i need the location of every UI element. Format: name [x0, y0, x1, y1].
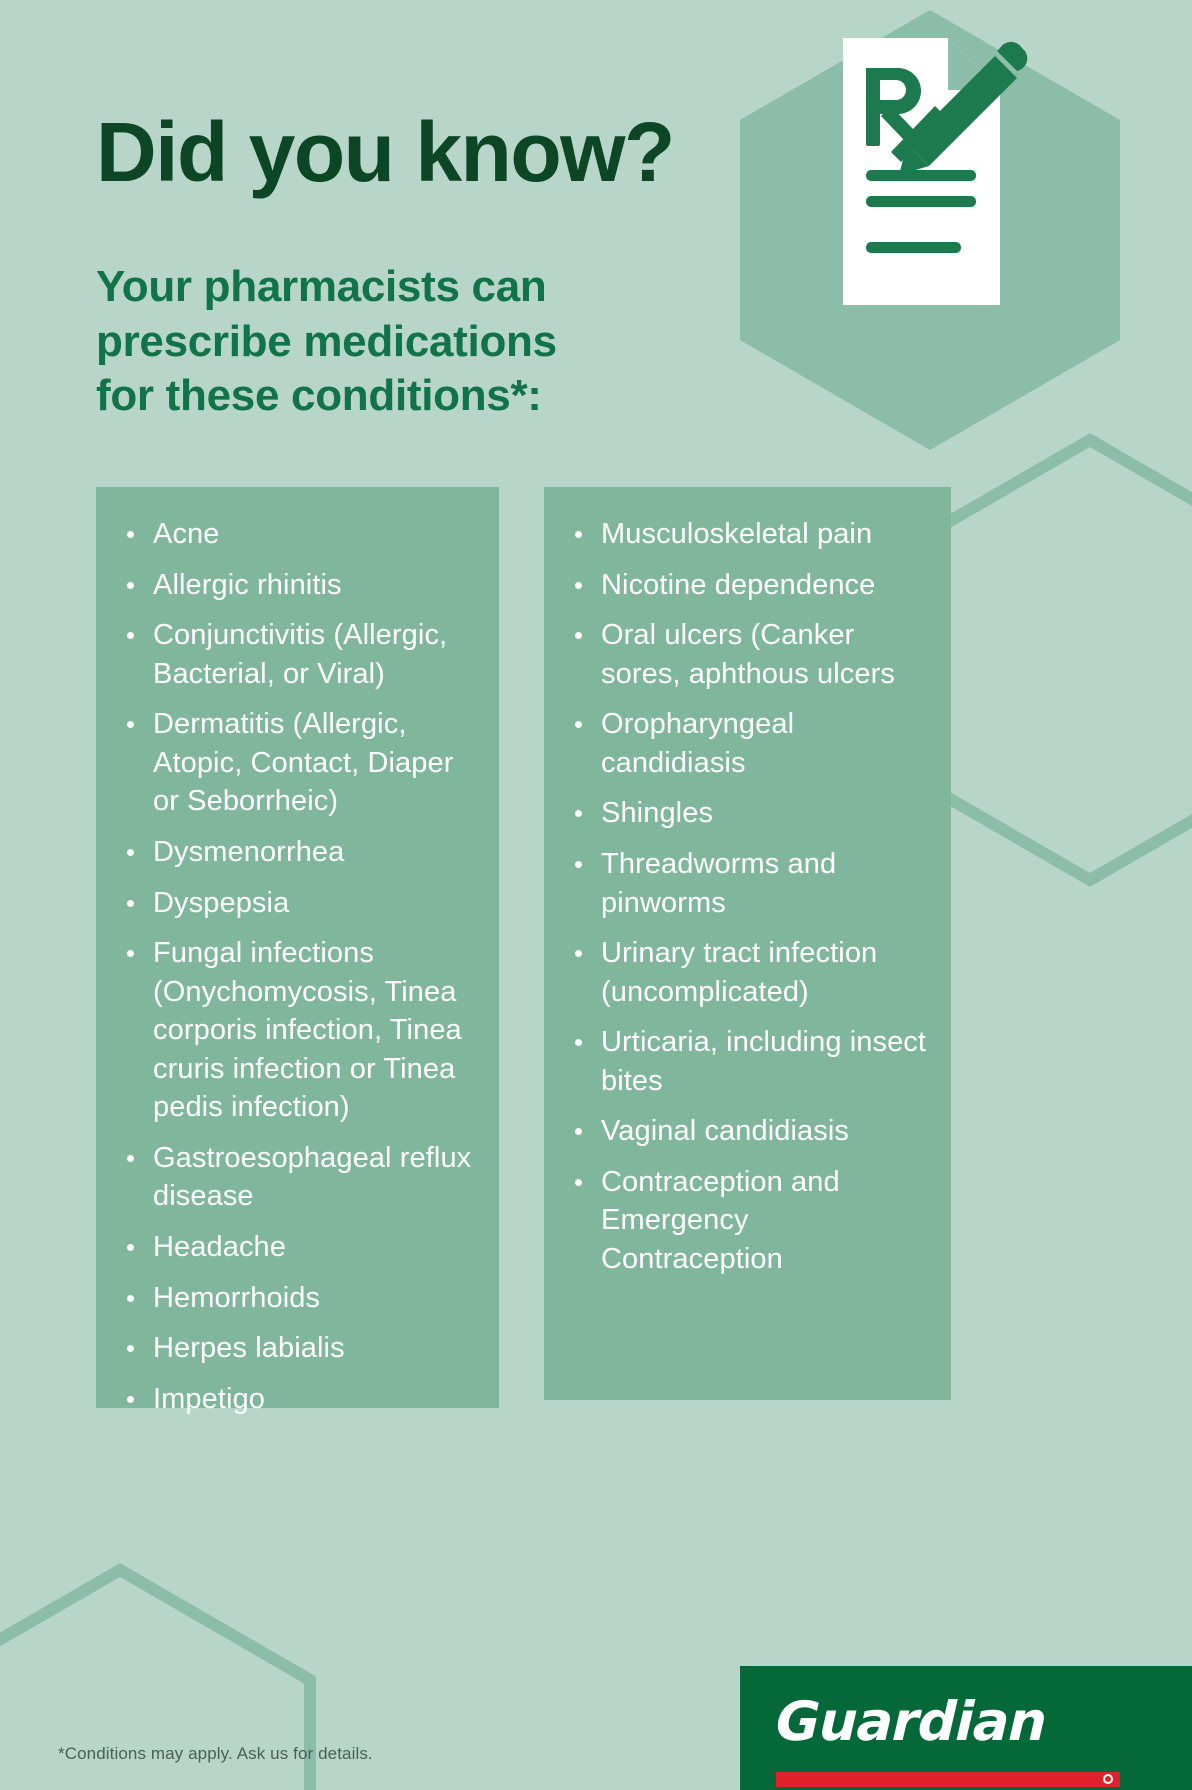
conditions-list-right: Musculoskeletal painNicotine dependenceO…	[566, 515, 929, 1279]
list-item: Dyspepsia	[118, 884, 477, 923]
guardian-registered-mark	[1103, 1774, 1113, 1784]
list-item: Acne	[118, 515, 477, 554]
subtitle-line-3: for these conditions*:	[96, 371, 542, 420]
conditions-list-left: AcneAllergic rhinitisConjunctivitis (All…	[118, 515, 477, 1418]
list-item: Urinary tract infection (uncomplicated)	[566, 934, 929, 1011]
guardian-logo: Guardian	[740, 1666, 1192, 1790]
list-item: Dermatitis (Allergic, Atopic, Contact, D…	[118, 705, 477, 821]
list-item: Contraception and Emergency Contraceptio…	[566, 1163, 929, 1279]
list-item: Impetigo	[118, 1380, 477, 1419]
list-item: Vaginal candidiasis	[566, 1112, 929, 1151]
list-item: Nicotine dependence	[566, 566, 929, 605]
list-item: Urticaria, including insect bites	[566, 1023, 929, 1100]
list-item: Herpes labialis	[118, 1329, 477, 1368]
conditions-card-left: AcneAllergic rhinitisConjunctivitis (All…	[96, 487, 499, 1408]
poster-header: Did you know? Your pharmacists can presc…	[96, 110, 796, 424]
subtitle-line-1: Your pharmacists can	[96, 262, 546, 311]
list-item: Hemorrhoids	[118, 1279, 477, 1318]
list-item: Musculoskeletal pain	[566, 515, 929, 554]
list-item: Conjunctivitis (Allergic, Bacterial, or …	[118, 616, 477, 693]
list-item: Allergic rhinitis	[118, 566, 477, 605]
conditions-columns: AcneAllergic rhinitisConjunctivitis (All…	[96, 487, 1096, 1408]
footnote-text: *Conditions may apply. Ask us for detail…	[58, 1744, 373, 1764]
list-item: Dysmenorrhea	[118, 833, 477, 872]
guardian-red-bar	[776, 1772, 1120, 1787]
guardian-wordmark: Guardian	[775, 1690, 1047, 1753]
list-item: Oral ulcers (Canker sores, aphthous ulce…	[566, 616, 929, 693]
list-item: Threadworms and pinworms	[566, 845, 929, 922]
list-item: Headache	[118, 1228, 477, 1267]
list-item: Oropharyngeal candidiasis	[566, 705, 929, 782]
list-item: Fungal infections (Onychomycosis, Tinea …	[118, 934, 477, 1127]
list-item: Gastroesophageal reflux disease	[118, 1139, 477, 1216]
page-title: Did you know?	[96, 110, 796, 194]
list-item: Shingles	[566, 794, 929, 833]
page-subtitle: Your pharmacists can prescribe medicatio…	[96, 260, 616, 424]
subtitle-line-2: prescribe medications	[96, 317, 557, 366]
conditions-card-right: Musculoskeletal painNicotine dependenceO…	[544, 487, 951, 1400]
